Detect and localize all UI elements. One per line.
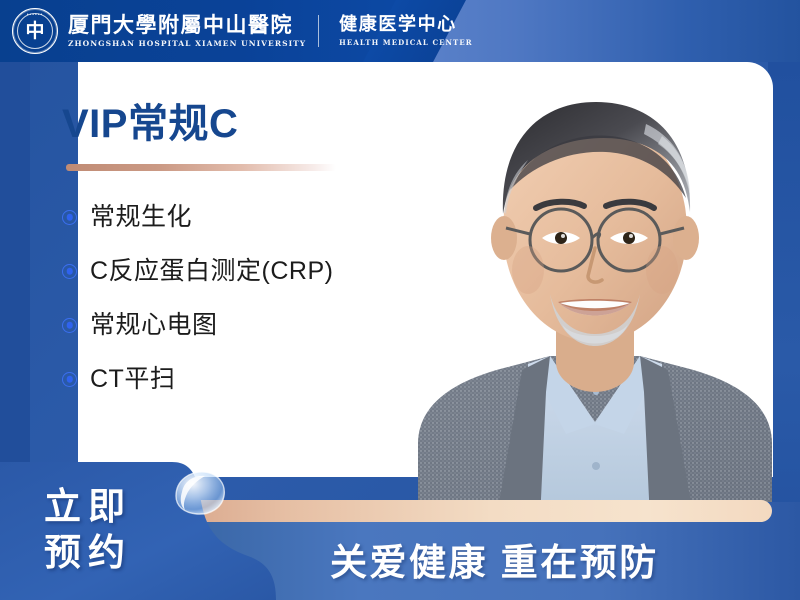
radio-dot-icon [62,264,77,279]
center-name-en: HEALTH MEDICAL CENTER [339,38,473,47]
header-divider [318,15,319,47]
hospital-name-en: ZHONGSHAN HOSPITAL XIAMEN UNIVERSITY [68,39,306,48]
hospital-name-cn: 厦門大學附屬中山醫院 [68,14,306,36]
cta-line-1: 立即 [44,484,132,530]
list-item: CT平扫 [62,360,334,398]
promo-poster: •••••• 中 厦門大學附屬中山醫院 ZHONGSHAN HOSPITAL X… [0,0,800,600]
seal-glyph: 中 [13,9,57,53]
bottom-banner: 立即 预约 关爱健康 重在预防 [0,462,800,600]
title-underline [66,164,336,171]
radio-dot-icon [62,372,77,387]
page-title: VIP常规C [62,104,238,144]
center-name-block: 健康医学中心 HEALTH MEDICAL CENTER [339,15,473,46]
cta-text[interactable]: 立即 预约 [44,484,132,576]
cta-line-2: 预约 [44,530,132,576]
list-item: 常规心电图 [62,306,334,344]
list-item: 常规生化 [62,198,334,236]
header-content: •••••• 中 厦門大學附屬中山醫院 ZHONGSHAN HOSPITAL X… [0,0,473,62]
water-droplet-icon [168,468,230,518]
header-gradient-fade [420,0,800,62]
hospital-name-block: 厦門大學附屬中山醫院 ZHONGSHAN HOSPITAL XIAMEN UNI… [68,14,306,48]
service-list: 常规生化 C反应蛋白测定(CRP) 常规心电图 CT平扫 [62,198,334,398]
list-item-label: CT平扫 [90,365,175,394]
list-item: C反应蛋白测定(CRP) [62,252,334,290]
banner-slogan: 关爱健康 重在预防 [330,532,659,586]
list-item-label: 常规心电图 [90,311,218,340]
hospital-seal-icon: •••••• 中 [12,8,58,54]
list-item-label: C反应蛋白测定(CRP) [90,257,334,286]
center-name-cn: 健康医学中心 [339,15,473,34]
portrait-photo [400,62,790,520]
radio-dot-icon [62,318,77,333]
list-item-label: 常规生化 [90,203,192,232]
radio-dot-icon [62,210,77,225]
